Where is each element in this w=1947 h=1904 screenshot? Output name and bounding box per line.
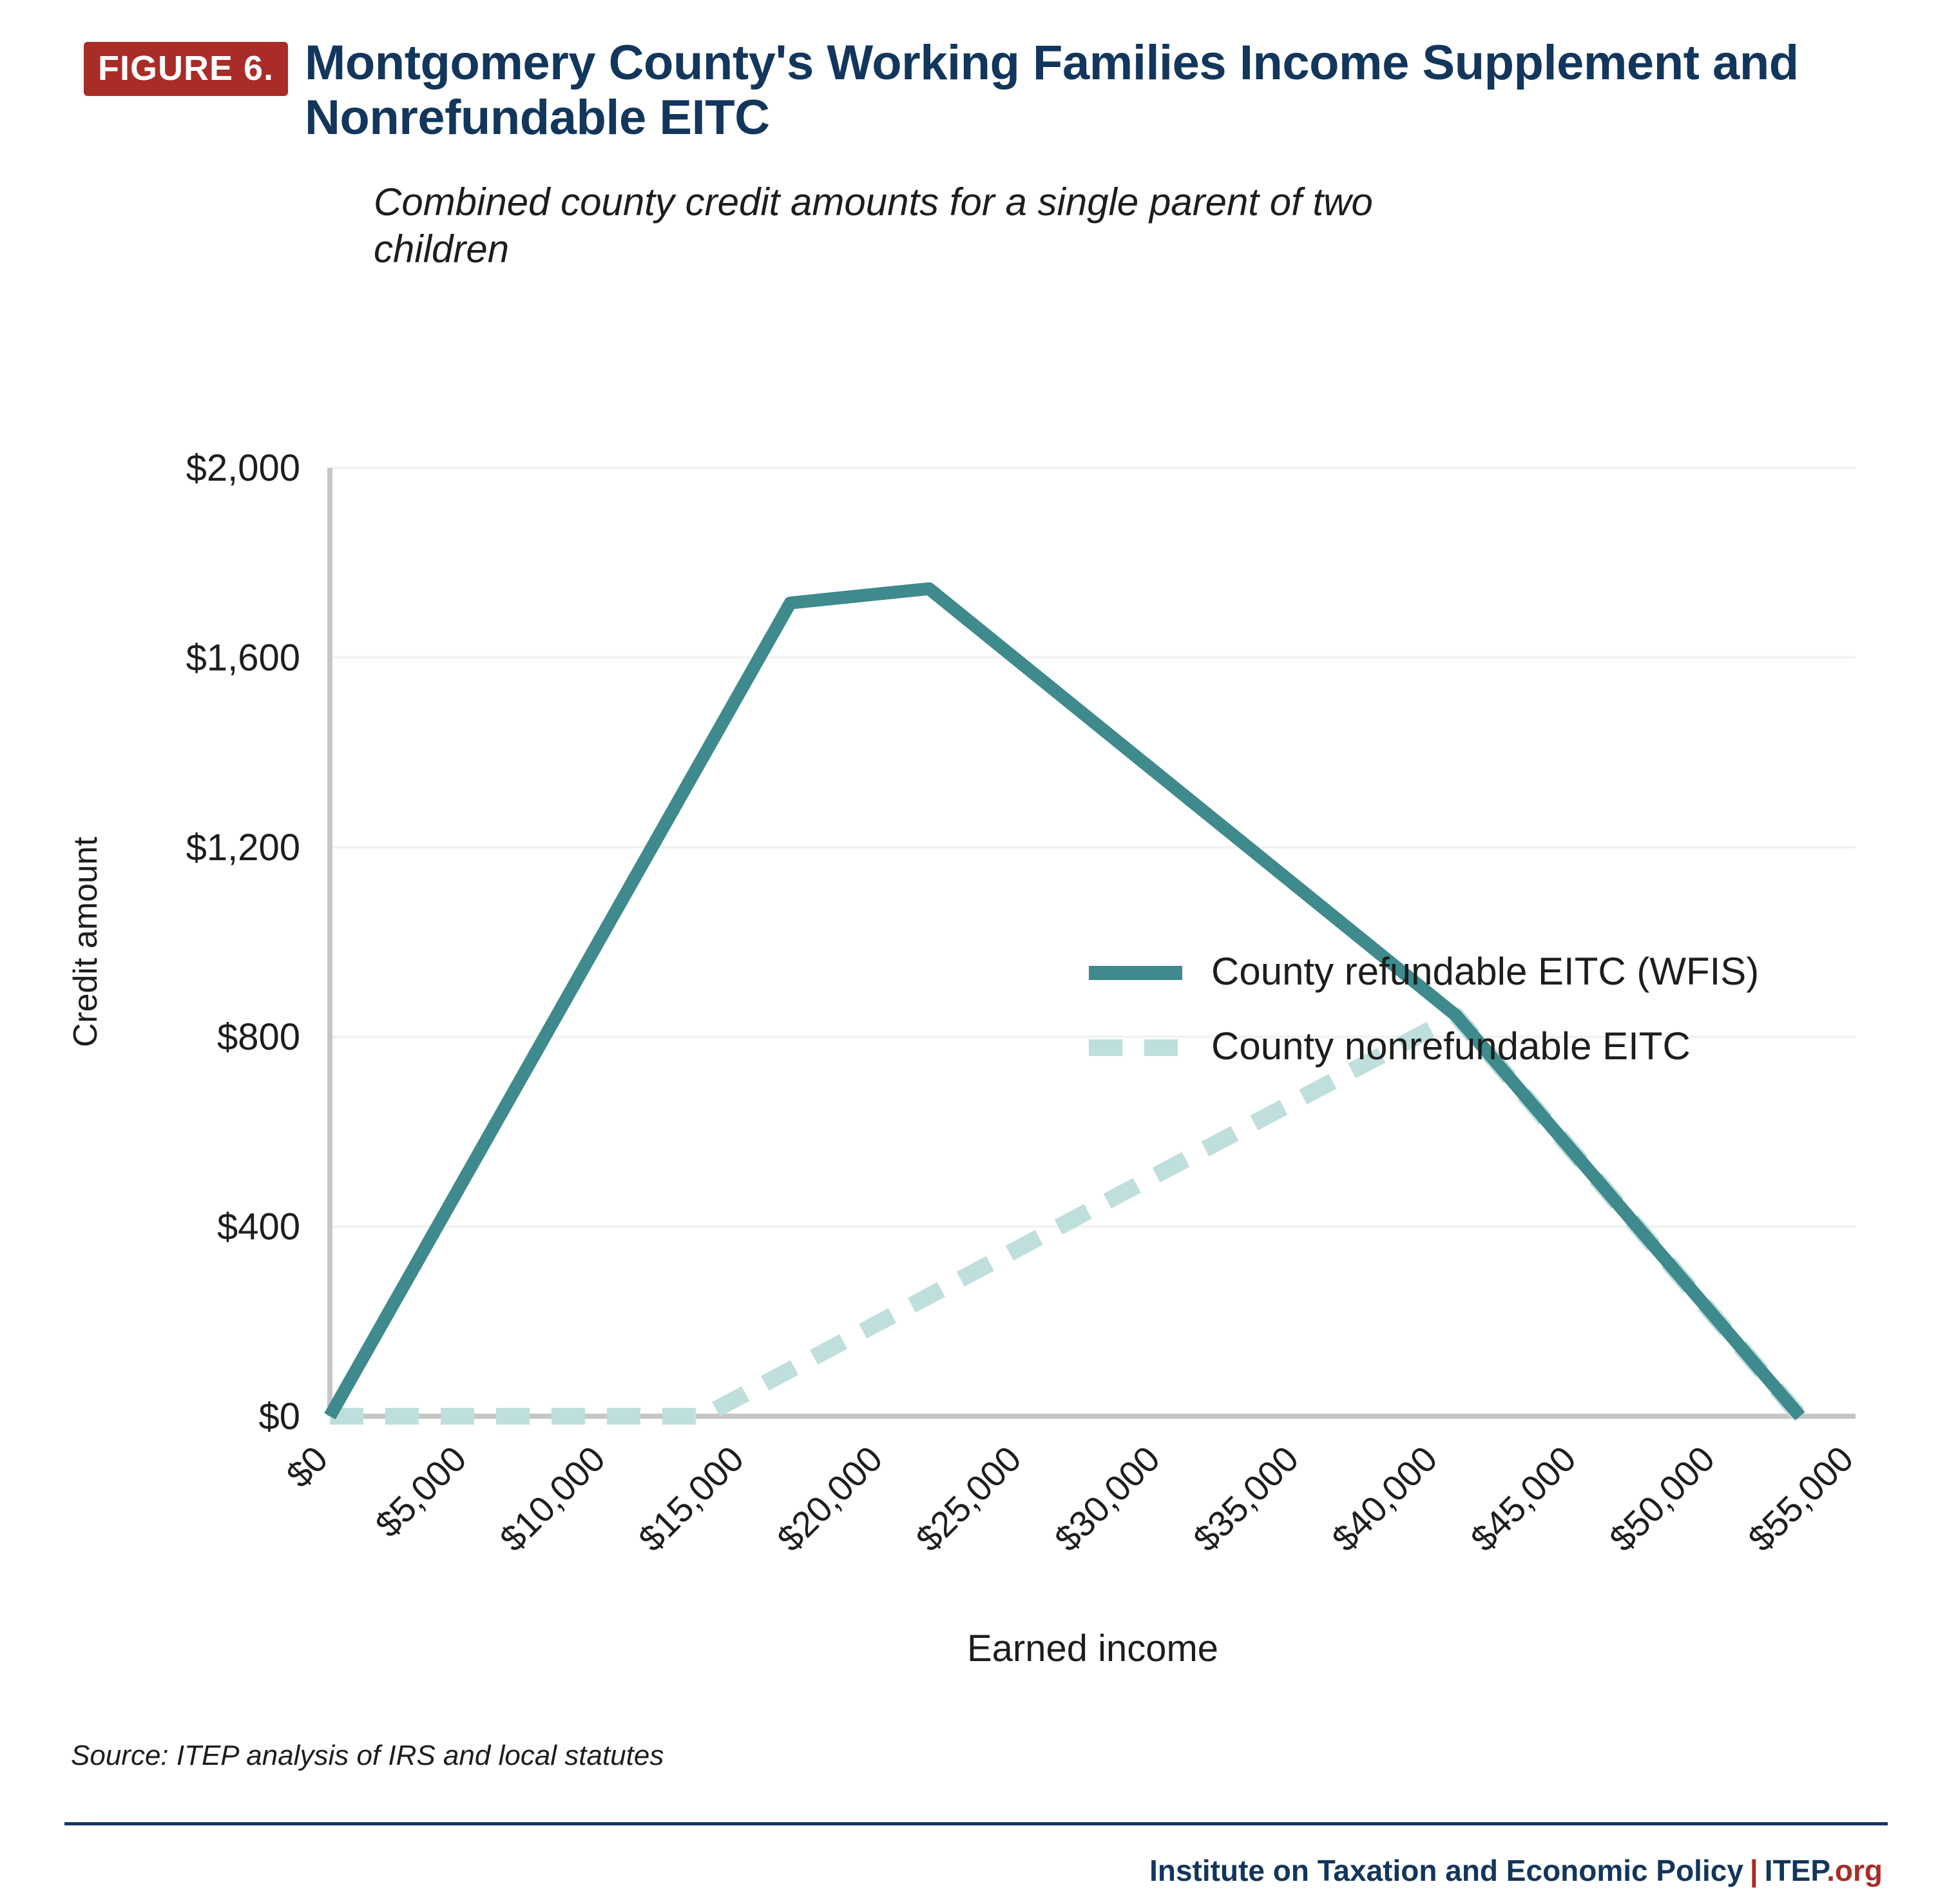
- figure-header: FIGURE 6. Montgomery County's Working Fa…: [84, 35, 1862, 273]
- figure-number-badge: FIGURE 6.: [84, 42, 288, 96]
- legend-label: County refundable EITC (WFIS): [1211, 950, 1759, 993]
- line-chart: $0$400$800$1,200$1,600$2,000 $0$5,000$10…: [0, 412, 1947, 1675]
- y-tick-label: $800: [217, 1016, 300, 1058]
- x-tick-label: $0: [278, 1438, 336, 1495]
- chart-legend: County refundable EITC (WFIS)County nonr…: [1089, 950, 1759, 1068]
- series-line-nonrefundable: [330, 1015, 1800, 1416]
- footer-credit: Institute on Taxation and Economic Polic…: [1149, 1853, 1883, 1888]
- data-series-group: [330, 589, 1800, 1416]
- y-tick-label: $2,000: [186, 447, 300, 489]
- x-tick-label: $35,000: [1185, 1438, 1307, 1559]
- x-tick-label: $30,000: [1046, 1438, 1167, 1559]
- figure-subtitle: Combined county credit amounts for a sin…: [374, 178, 1469, 273]
- x-tick-label: $10,000: [492, 1438, 613, 1559]
- x-tick-label: $25,000: [908, 1438, 1029, 1559]
- x-tick-label: $20,000: [769, 1438, 890, 1559]
- credit-separator: |: [1750, 1854, 1758, 1887]
- y-tick-label: $1,200: [186, 827, 300, 869]
- page-title: Montgomery County's Working Families Inc…: [305, 35, 1862, 145]
- y-tick-label: $400: [217, 1206, 300, 1248]
- figure-page: FIGURE 6. Montgomery County's Working Fa…: [0, 0, 1947, 1904]
- x-tick-label: $45,000: [1463, 1438, 1584, 1559]
- x-tick-label: $50,000: [1602, 1438, 1723, 1559]
- y-axis-tick-labels: $0$400$800$1,200$1,600$2,000: [186, 447, 300, 1438]
- credit-site-name: ITEP: [1765, 1854, 1827, 1887]
- gridlines: [330, 468, 1856, 1227]
- credit-org-name: Institute on Taxation and Economic Polic…: [1149, 1854, 1743, 1887]
- source-note: Source: ITEP analysis of IRS and local s…: [71, 1740, 664, 1772]
- x-tick-label: $15,000: [631, 1438, 752, 1559]
- x-tick-label: $55,000: [1740, 1438, 1861, 1559]
- chart-container: $0$400$800$1,200$1,600$2,000 $0$5,000$10…: [0, 412, 1947, 1675]
- x-axis-tick-labels: $0$5,000$10,000$15,000$20,000$25,000$30,…: [278, 1438, 1861, 1559]
- footer-divider: [64, 1822, 1888, 1825]
- legend-label: County nonrefundable EITC: [1211, 1024, 1691, 1068]
- y-axis-title: Credit amount: [67, 836, 104, 1047]
- y-tick-label: $1,600: [186, 637, 300, 678]
- x-axis-title: Earned income: [967, 1628, 1218, 1669]
- x-tick-label: $40,000: [1324, 1438, 1445, 1559]
- y-tick-label: $0: [258, 1396, 300, 1438]
- x-tick-label: $5,000: [367, 1438, 474, 1545]
- series-line-refundable: [330, 589, 1800, 1416]
- credit-site-tld: .org: [1827, 1854, 1883, 1887]
- title-row: FIGURE 6. Montgomery County's Working Fa…: [84, 35, 1862, 145]
